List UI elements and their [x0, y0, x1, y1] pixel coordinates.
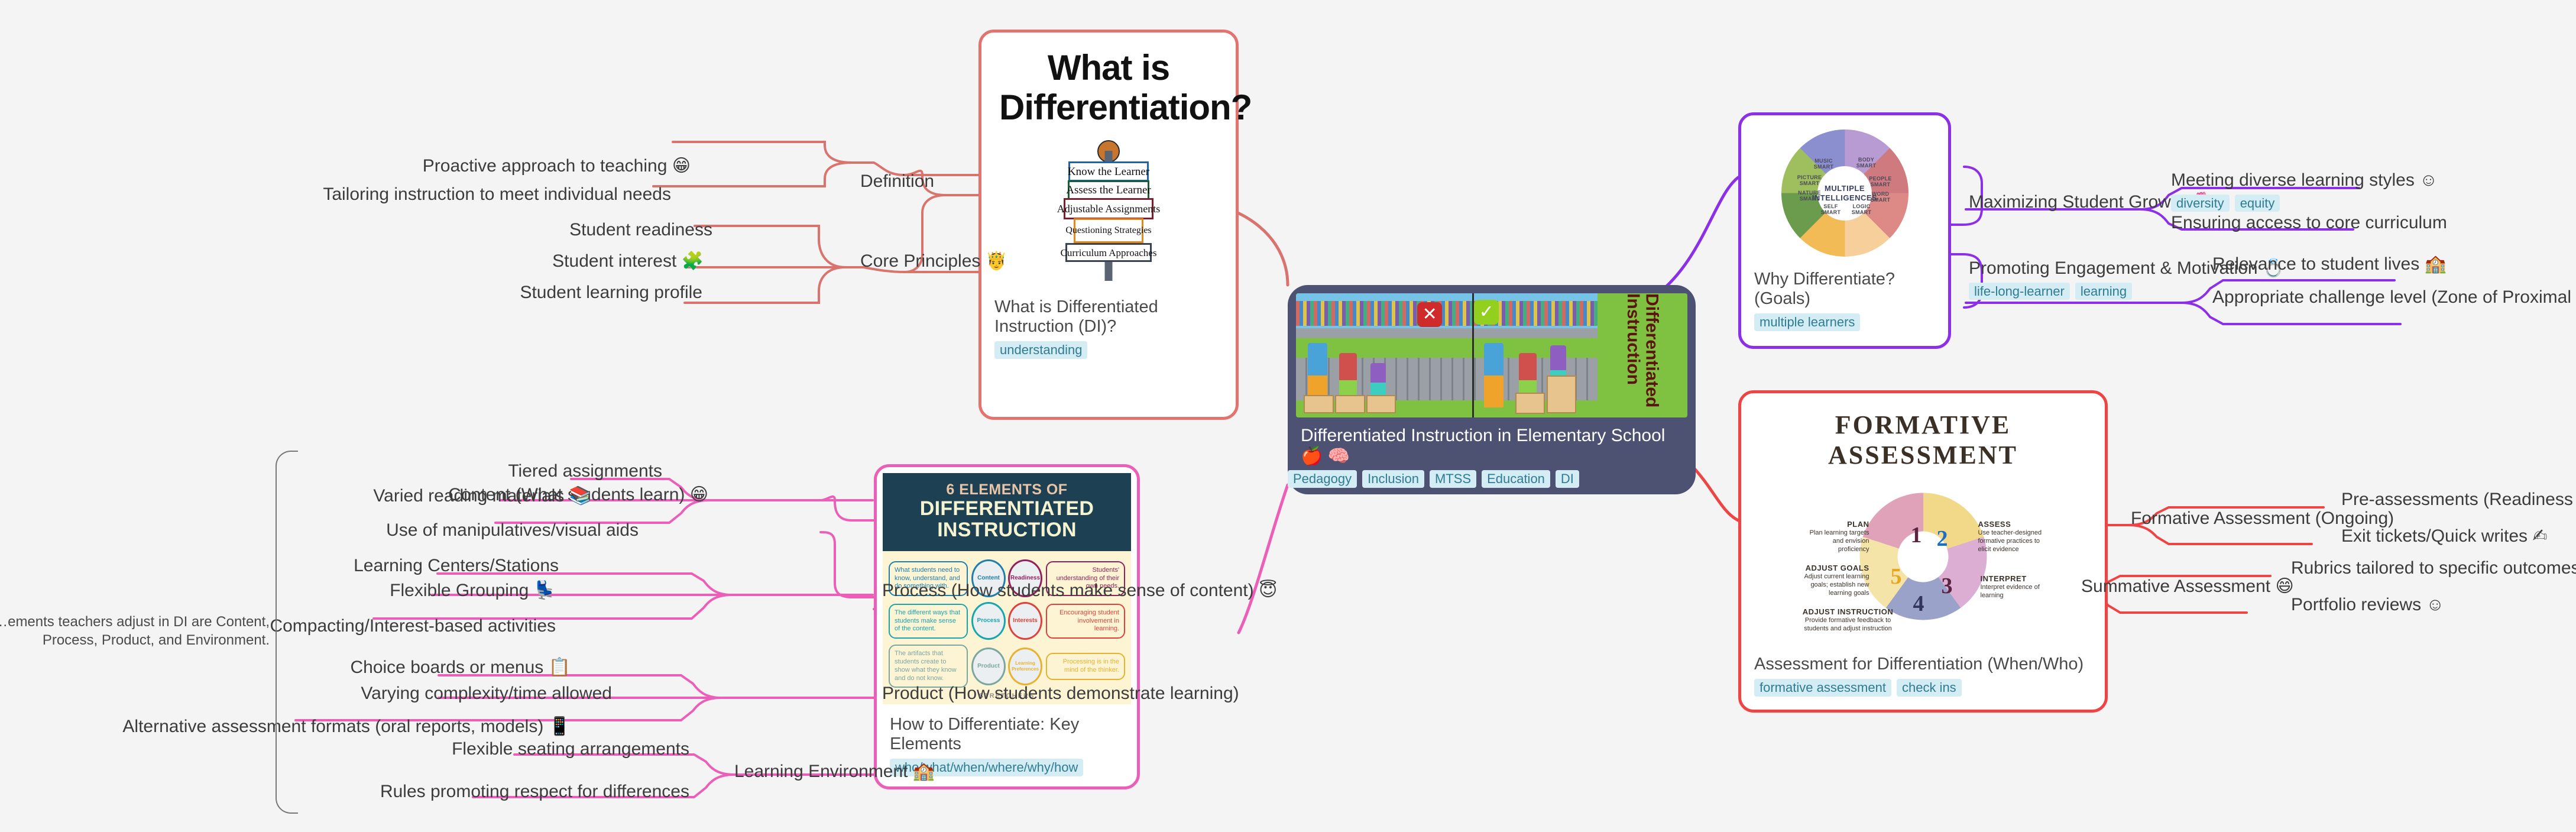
- node-appropriate-challenge-level[interactable]: Appropriate challenge level (Zone of Pro…: [2212, 287, 2576, 308]
- node-product-root[interactable]: Product (How students demonstrate learni…: [882, 684, 1239, 704]
- six-element: The artifacts that students create to sh…: [889, 645, 1006, 688]
- card-tags: understanding: [981, 341, 1236, 359]
- node-choice-boards[interactable]: Choice boards or menus 📋: [350, 658, 571, 678]
- wheel-label: NATURE SMART: [1793, 190, 1826, 202]
- cycle-step-desc: Use teacher-designed formative practices…: [1978, 529, 2049, 553]
- cycle-step: ADJUST GOALS Adjust current learning goa…: [1793, 564, 1869, 598]
- node-definition-root[interactable]: Definition: [860, 171, 934, 192]
- node-label: Varied reading materials 📚: [373, 486, 591, 506]
- tag[interactable]: equity: [2235, 195, 2280, 212]
- tag[interactable]: understanding: [994, 341, 1087, 359]
- node-label: Varying complexity/time allowed: [361, 684, 612, 703]
- assessment-cycle: 1 2 3 4 5 PLAN Plan learning targets and…: [1832, 474, 2015, 639]
- six-element: The different ways that students make se…: [889, 602, 1006, 640]
- signpost-arrow: Questioning Strategies: [1074, 218, 1143, 243]
- six-element: Processing is in the mind of the thinker…: [1008, 645, 1125, 688]
- node-proactive-approach[interactable]: Proactive approach to teaching 😁: [423, 156, 691, 177]
- signpost-title-line2: Differentiation?: [999, 88, 1218, 127]
- node-label: Flexible Grouping 💺: [390, 581, 556, 600]
- multiple-intelligences-wheel: MULTIPLE INTELLIGENCES MUSIC SMART BODY …: [1781, 130, 1908, 257]
- signpost-illustration: What is Differentiation? Know the Learne…: [981, 33, 1236, 283]
- node-student-interest[interactable]: Student interest 🧩: [552, 251, 704, 272]
- tag[interactable]: DI: [1556, 470, 1579, 488]
- node-label: Tiered assignments: [508, 461, 662, 481]
- six-element-pill: Product: [971, 648, 1006, 685]
- elements-bracket-note: …ements teachers adjust in DI are Conten…: [0, 613, 270, 649]
- six-element-text: The different ways that students make se…: [889, 604, 968, 639]
- wheel-label: MUSIC SMART: [1809, 158, 1839, 170]
- tag[interactable]: Education: [1482, 470, 1550, 488]
- center-card-sidebar-title: Differentiated Instruction: [1598, 293, 1687, 417]
- node-label: Pre-assessments (Readiness checks): [2341, 490, 2576, 509]
- six-header-line2: INSTRUCTION: [887, 520, 1126, 541]
- node-label: Exit tickets/Quick writes ✍: [2341, 526, 2548, 546]
- card-why-differentiate[interactable]: MULTIPLE INTELLIGENCES MUSIC SMART BODY …: [1738, 112, 1951, 349]
- cycle-step-desc: Provide formative feedback to students a…: [1801, 617, 1895, 633]
- node-diverse-learning-styles[interactable]: Meeting diverse learning styles ☺ divers…: [2171, 170, 2438, 212]
- card-what-is-differentiation[interactable]: What is Differentiation? Know the Learne…: [978, 30, 1239, 420]
- node-learning-centers[interactable]: Learning Centers/Stations: [354, 556, 559, 577]
- signpost-arrow: Assess the Learner: [1068, 180, 1149, 200]
- node-flexible-grouping[interactable]: Flexible Grouping 💺: [390, 581, 556, 601]
- cycle-number: 5: [1891, 564, 1902, 590]
- cycle-step-label: ADJUST INSTRUCTION: [1803, 607, 1893, 616]
- six-element-pill: Interests: [1008, 602, 1042, 640]
- tag[interactable]: Inclusion: [1362, 470, 1424, 488]
- node-tiered-assignments[interactable]: Tiered assignments: [508, 461, 662, 482]
- center-card-tags: Pedagogy Inclusion MTSS Education DI: [1288, 470, 1696, 488]
- cycle-step-label: ADJUST GOALS: [1806, 564, 1869, 572]
- center-card[interactable]: ✕ ✓ Differentiated Instruction Different…: [1288, 285, 1696, 494]
- node-label: Definition: [860, 171, 934, 191]
- node-label: Formative Assessment (Ongoing): [2131, 509, 2394, 528]
- cycle-step-label: PLAN: [1847, 520, 1869, 529]
- node-student-readiness[interactable]: Student readiness: [569, 220, 712, 241]
- six-elements-header: 6 ELEMENTS OF DIFFERENTIATED INSTRUCTION: [883, 473, 1131, 551]
- tag[interactable]: life-long-learner: [1969, 283, 2070, 300]
- tag[interactable]: Pedagogy: [1288, 470, 1357, 488]
- node-label: Student readiness: [569, 220, 712, 239]
- six-element-pill: Process: [971, 602, 1006, 640]
- tag[interactable]: multiple learners: [1754, 313, 1860, 331]
- six-element-pill: Learning Preferences: [1008, 648, 1042, 685]
- node-rubrics-tailored[interactable]: Rubrics tailored to specific outcomes: [2291, 558, 2576, 579]
- card-caption: What is Differentiated Instruction (DI)?: [981, 297, 1236, 336]
- center-card-image: ✕ ✓ Differentiated Instruction: [1296, 293, 1687, 417]
- node-relevance-student-lives[interactable]: Relevance to student lives 🏫: [2212, 254, 2447, 275]
- node-label: Ensuring access to core curriculum: [2171, 213, 2447, 232]
- wheel-label: WORD SMART: [1864, 191, 1897, 203]
- six-elements-body: What students need to know, understand, …: [883, 551, 1131, 704]
- node-learning-environment-root[interactable]: Learning Environment 🏫: [734, 762, 935, 782]
- six-element-text: Processing is in the mind of the thinker…: [1046, 653, 1125, 680]
- node-alternative-assessment-formats[interactable]: Alternative assessment formats (oral rep…: [122, 717, 571, 737]
- cycle-number: 4: [1913, 591, 1924, 617]
- cycle-step: ADJUST INSTRUCTION Provide formative fee…: [1801, 607, 1895, 633]
- node-tags: diversity equity: [2171, 195, 2438, 212]
- node-label: Meeting diverse learning styles ☺: [2171, 170, 2438, 190]
- node-label: Rubrics tailored to specific outcomes: [2291, 558, 2576, 578]
- signpost-arrow: Adjustable Assignments: [1064, 198, 1153, 219]
- node-label: Student learning profile: [520, 283, 702, 302]
- node-label: Process (How students make sense of cont…: [882, 581, 1277, 600]
- card-caption: Assessment for Differentiation (When/Who…: [1741, 655, 2105, 674]
- node-varied-reading-materials[interactable]: Varied reading materials 📚: [373, 486, 591, 507]
- node-label: Flexible seating arrangements: [452, 739, 689, 759]
- node-label: Summative Assessment 😄: [2081, 577, 2294, 596]
- six-header-small: 6 ELEMENTS OF: [887, 481, 1126, 498]
- cycle-step-label: INTERPRET: [1981, 574, 2027, 583]
- card-six-elements[interactable]: 6 ELEMENTS OF DIFFERENTIATED INSTRUCTION…: [874, 464, 1140, 789]
- six-element-text: The artifacts that students create to sh…: [889, 645, 968, 688]
- tag[interactable]: check ins: [1897, 679, 1962, 697]
- node-label: Rules promoting respect for differences: [380, 782, 689, 801]
- node-pre-assessments[interactable]: Pre-assessments (Readiness checks): [2341, 490, 2576, 510]
- card-formative-assessment[interactable]: FORMATIVE ASSESSMENT 1 2 3 4 5 PLAN Plan…: [1738, 390, 2108, 713]
- cycle-step-desc: Interpret evidence of learning: [1981, 584, 2046, 600]
- node-portfolio-reviews[interactable]: Portfolio reviews ☺: [2291, 595, 2444, 616]
- signpost-arrow: Know the Learner: [1068, 161, 1149, 182]
- cycle-step-label: ASSESS: [1978, 520, 2011, 529]
- wheel-label: PICTURE SMART: [1793, 174, 1826, 187]
- six-element-text: Encouraging student involvement in learn…: [1046, 604, 1125, 639]
- tag[interactable]: formative assessment: [1754, 679, 1891, 697]
- node-label: Relevance to student lives 🏫: [2212, 254, 2447, 274]
- wheel-label: PEOPLE SMART: [1864, 176, 1897, 188]
- node-process-root[interactable]: Process (How students make sense of cont…: [882, 581, 1277, 601]
- cycle-step-desc: Adjust current learning goals; establish…: [1793, 573, 1869, 597]
- cycle-step: INTERPRET Interpret evidence of learning: [1981, 574, 2046, 600]
- node-label: Portfolio reviews ☺: [2291, 595, 2444, 614]
- wheel-label: LOGIC SMART: [1846, 203, 1877, 216]
- node-label: Tailoring instruction to meet individual…: [323, 184, 671, 204]
- node-tailoring-instruction[interactable]: Tailoring instruction to meet individual…: [323, 184, 671, 205]
- node-core-principles-root[interactable]: Core Principles 🤴: [860, 251, 1007, 272]
- signpost-title-line1: What is: [999, 48, 1218, 88]
- node-varying-complexity[interactable]: Varying complexity/time allowed: [361, 684, 612, 704]
- node-summative-assessment-root[interactable]: Summative Assessment 😄: [2081, 577, 2294, 597]
- node-flexible-seating[interactable]: Flexible seating arrangements: [452, 739, 689, 760]
- node-label: Proactive approach to teaching 😁: [423, 156, 691, 176]
- node-label: Product (How students demonstrate learni…: [882, 684, 1239, 703]
- cycle-step-desc: Plan learning targets and envision profi…: [1801, 529, 1869, 553]
- six-element: Encouraging student involvement in learn…: [1008, 602, 1125, 640]
- six-header-line1: DIFFERENTIATED: [887, 498, 1126, 520]
- cycle-number: 2: [1937, 526, 1948, 552]
- cycle-number: 3: [1942, 573, 1953, 599]
- cycle-step: PLAN Plan learning targets and envision …: [1801, 520, 1869, 554]
- node-manipulatives-visual-aids[interactable]: Use of manipulatives/visual aids: [386, 520, 639, 541]
- center-card-caption: Differentiated Instruction in Elementary…: [1288, 426, 1696, 467]
- cycle-number: 1: [1911, 522, 1922, 548]
- node-label: Core Principles 🤴: [860, 251, 1007, 271]
- cross-mark: ✕: [1417, 302, 1442, 327]
- node-compacting-interest[interactable]: Compacting/Interest-based activities: [270, 616, 556, 637]
- node-label: Student interest 🧩: [552, 251, 704, 271]
- card-caption: How to Differentiate: Key Elements: [877, 715, 1137, 754]
- cycle-step: ASSESS Use teacher-designed formative pr…: [1978, 520, 2049, 554]
- check-mark: ✓: [1474, 300, 1499, 325]
- node-label: Compacting/Interest-based activities: [270, 616, 556, 636]
- node-label: Use of manipulatives/visual aids: [386, 520, 639, 540]
- node-rules-respect-differences[interactable]: Rules promoting respect for differences: [380, 782, 689, 802]
- node-label: Alternative assessment formats (oral rep…: [122, 717, 571, 736]
- tag[interactable]: diversity: [2171, 195, 2230, 212]
- card-tags: formative assessment check ins: [1741, 679, 2105, 697]
- assessment-title: FORMATIVE ASSESSMENT: [1741, 410, 2105, 470]
- wheel-label: BODY SMART: [1851, 157, 1882, 169]
- node-exit-tickets[interactable]: Exit tickets/Quick writes ✍: [2341, 526, 2548, 547]
- card-tags: multiple learners: [1741, 313, 1948, 331]
- wheel-label: SELF SMART: [1816, 203, 1846, 216]
- elements-bracket: [276, 451, 298, 814]
- mindmap-canvas: ✕ ✓ Differentiated Instruction Different…: [0, 0, 2576, 832]
- node-label: Appropriate challenge level (Zone of Pro…: [2212, 287, 2576, 307]
- signpost-arrow: Curriculum Approaches: [1065, 243, 1152, 262]
- node-student-learning-profile[interactable]: Student learning profile: [520, 283, 702, 303]
- tag[interactable]: MTSS: [1430, 470, 1476, 488]
- node-access-core-curriculum[interactable]: Ensuring access to core curriculum: [2171, 213, 2447, 234]
- tag[interactable]: learning: [2075, 283, 2132, 300]
- card-caption: Why Differentiate? (Goals): [1741, 270, 1948, 309]
- node-label: Choice boards or menus 📋: [350, 658, 571, 677]
- node-label: Learning Centers/Stations: [354, 556, 559, 575]
- node-label: Learning Environment 🏫: [734, 762, 935, 781]
